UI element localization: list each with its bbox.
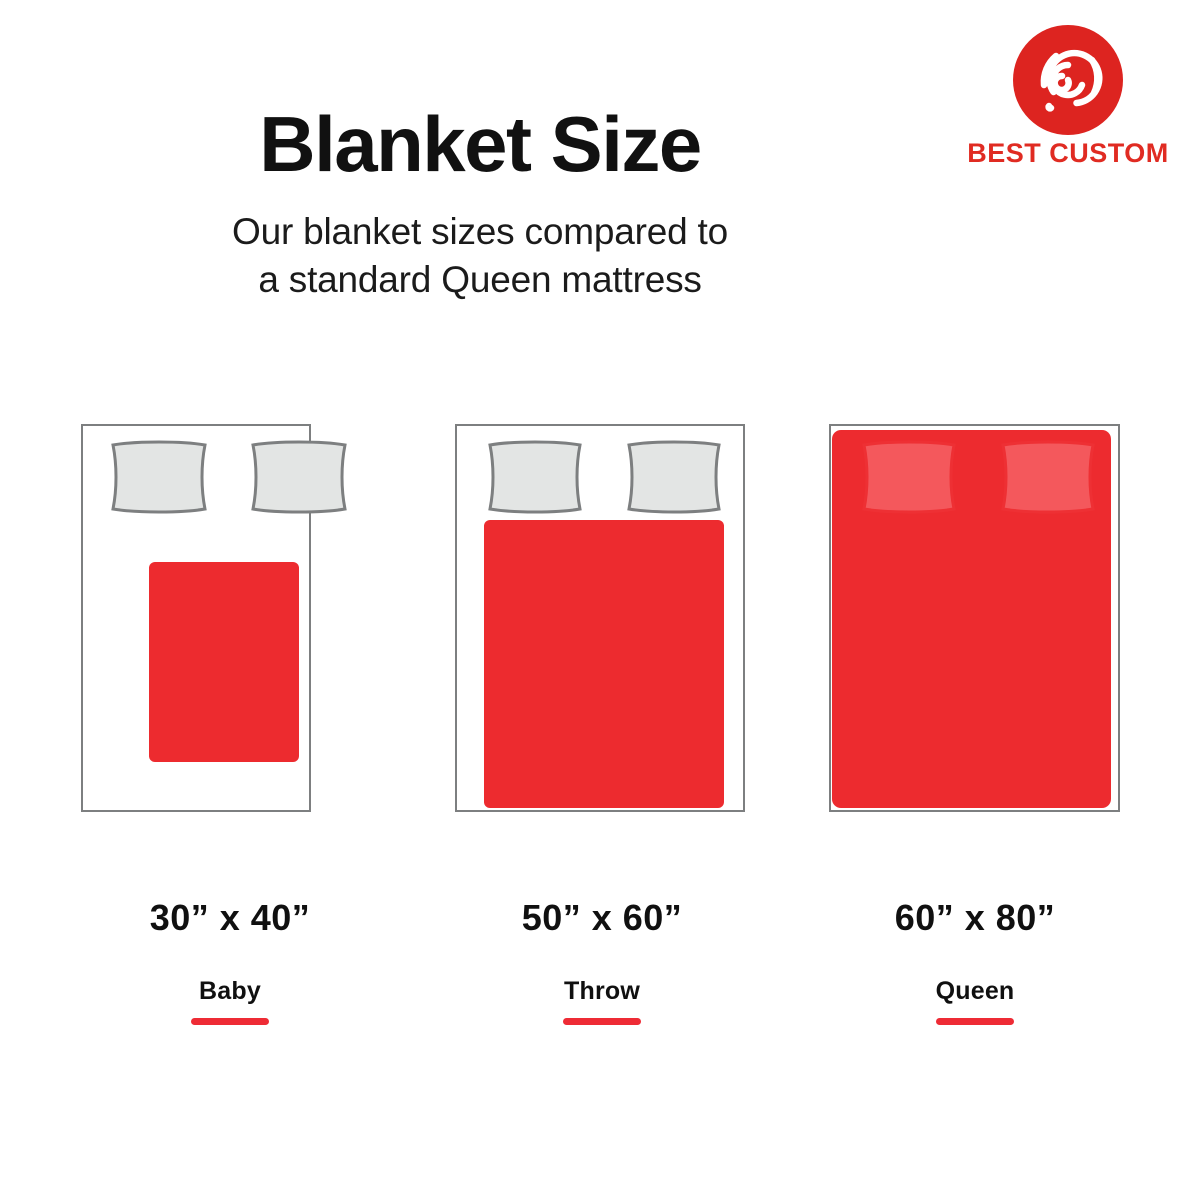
caption-throw: 50” x 60” Throw bbox=[412, 900, 792, 1025]
pillow-left-throw bbox=[483, 440, 587, 514]
caption-rule-queen bbox=[936, 1018, 1014, 1025]
caption-baby: 30” x 40” Baby bbox=[40, 900, 420, 1025]
headline-block: Blanket Size Our blanket sizes compared … bbox=[0, 104, 960, 304]
caption-queen: 60” x 80” Queen bbox=[785, 900, 1165, 1025]
pillow-left-queen bbox=[857, 440, 961, 514]
bed-captions-row: 30” x 40” Baby 50” x 60” Throw 60” x 80”… bbox=[0, 900, 1200, 1060]
pillow-right-queen bbox=[996, 440, 1100, 514]
caption-dimensions-queen: 60” x 80” bbox=[785, 900, 1165, 936]
bed-diagram-baby bbox=[81, 424, 311, 812]
pillow-left-baby bbox=[106, 440, 212, 514]
caption-name-baby: Baby bbox=[40, 979, 420, 1004]
bed-diagram-queen bbox=[829, 424, 1120, 812]
caption-name-throw: Throw bbox=[412, 979, 792, 1004]
blanket-swatch-throw bbox=[484, 520, 724, 808]
caption-name-queen: Queen bbox=[785, 979, 1165, 1004]
page-subtitle: Our blanket sizes compared to a standard… bbox=[0, 208, 960, 304]
page-subtitle-line-2: a standard Queen mattress bbox=[0, 256, 960, 304]
brand-logo: BEST CUSTOM bbox=[962, 24, 1174, 167]
blanket-swatch-baby bbox=[149, 562, 299, 762]
page-title: Blanket Size bbox=[0, 104, 960, 186]
bed-diagram-throw bbox=[455, 424, 745, 812]
caption-rule-baby bbox=[191, 1018, 269, 1025]
bed-comparison-row bbox=[0, 424, 1200, 814]
caption-dimensions-throw: 50” x 60” bbox=[412, 900, 792, 936]
pillow-right-baby bbox=[246, 440, 352, 514]
brand-name: BEST CUSTOM bbox=[962, 140, 1174, 167]
caption-rule-throw bbox=[563, 1018, 641, 1025]
caption-dimensions-baby: 30” x 40” bbox=[40, 900, 420, 936]
pillow-right-throw bbox=[622, 440, 726, 514]
page-subtitle-line-1: Our blanket sizes compared to bbox=[0, 208, 960, 256]
fingerprint-icon bbox=[1012, 24, 1124, 136]
